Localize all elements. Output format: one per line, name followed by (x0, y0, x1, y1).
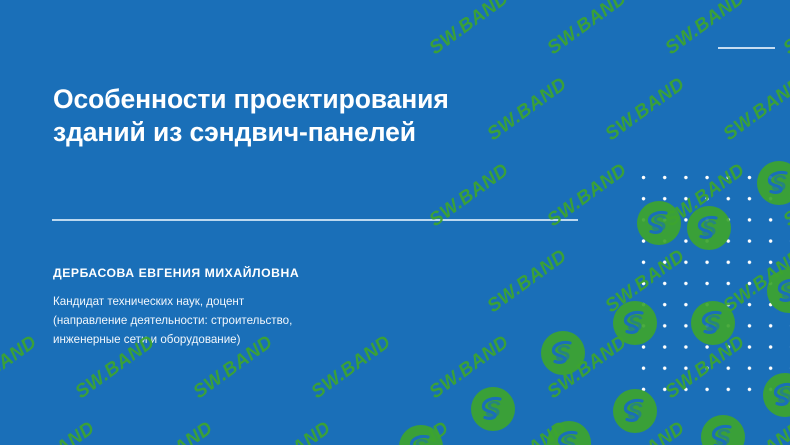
svg-text:S: S (561, 430, 577, 445)
watermark-text: SW.BAND (426, 0, 514, 60)
page-title-line-2: зданий из сэндвич-панелей (53, 116, 573, 149)
svg-text:S: S (413, 434, 429, 445)
svg-text:S: S (715, 424, 731, 445)
watermark-logo-icon: S (612, 300, 658, 346)
watermark-text: SW.BAND (780, 332, 790, 404)
watermark-logo-icon: S (762, 372, 790, 418)
watermark-logo-icon: S (700, 414, 746, 445)
author-description-line-1: Кандидат технических наук, доцент (53, 292, 453, 311)
page-title-line-1: Особенности проектирования (53, 83, 573, 116)
watermark-text: SW.BAND (366, 418, 454, 445)
watermark-text: SW.BAND (720, 74, 790, 146)
watermark-text: SW.BAND (12, 418, 100, 445)
watermark-logo-icon: S (766, 268, 790, 314)
author-name: ДЕРБАСОВА ЕВГЕНИЯ МИХАЙЛОВНА (53, 266, 299, 280)
watermark-text: SW.BAND (602, 74, 690, 146)
watermark-text: SW.BAND (484, 246, 572, 318)
watermark-logo-icon: S (612, 388, 658, 434)
watermark-text: SW.BAND (544, 332, 632, 404)
svg-text:S: S (651, 210, 667, 236)
watermark-logo-icon: S (756, 160, 790, 206)
presentation-slide: Особенности проектирования зданий из сэн… (0, 0, 790, 445)
svg-text:S: S (705, 310, 721, 336)
watermark-text: SW.BAND (0, 332, 42, 404)
page-title: Особенности проектирования зданий из сэн… (53, 83, 573, 149)
watermark-text: SW.BAND (544, 0, 632, 60)
watermark-logo-icon: S (636, 200, 682, 246)
author-description: Кандидат технических наук, доцент (напра… (53, 292, 453, 350)
svg-text:S: S (781, 278, 790, 304)
svg-text:S: S (627, 398, 643, 424)
watermark-logo-icon: S (470, 386, 516, 432)
svg-text:S: S (701, 215, 717, 241)
watermark-text: SW.BAND (602, 418, 690, 445)
author-description-line-2: (направление деятельности: строительство… (53, 311, 453, 330)
watermark-logo-icon: S (546, 420, 592, 445)
watermark-logo-icon: S (686, 205, 732, 251)
svg-text:S: S (485, 396, 501, 422)
watermark-logo-icon: S (398, 424, 444, 445)
watermark-text: SW.BAND (602, 246, 690, 318)
top-accent-rule (718, 47, 775, 49)
watermark-text: SW.BAND (662, 332, 750, 404)
svg-text:S: S (555, 340, 571, 366)
watermark-text: SW.BAND (720, 246, 790, 318)
watermark-text: SW.BAND (130, 418, 218, 445)
horizontal-divider (52, 219, 578, 221)
watermark-text: SW.BAND (248, 418, 336, 445)
svg-text:S: S (627, 310, 643, 336)
watermark-logo-icon: S (540, 330, 586, 376)
watermark-text: SW.BAND (544, 160, 632, 232)
watermark-text: SW.BAND (484, 418, 572, 445)
watermark-text: SW.BAND (720, 418, 790, 445)
watermark-text: SW.BAND (426, 160, 514, 232)
watermark-logo-icon: S (690, 300, 736, 346)
watermark-text: SW.BAND (662, 160, 750, 232)
dot-grid-pattern (638, 172, 790, 400)
watermark-overlay: SW.BANDSW.BANDSW.BANDSW.BANDSW.BANDSW.BA… (0, 0, 790, 445)
watermark-text: SW.BAND (662, 0, 750, 60)
watermark-text: SW.BAND (780, 160, 790, 232)
author-description-line-3: инженерные сети и оборудование) (53, 330, 453, 349)
svg-text:S: S (771, 170, 787, 196)
svg-text:S: S (777, 382, 790, 408)
watermark-text: SW.BAND (780, 0, 790, 60)
